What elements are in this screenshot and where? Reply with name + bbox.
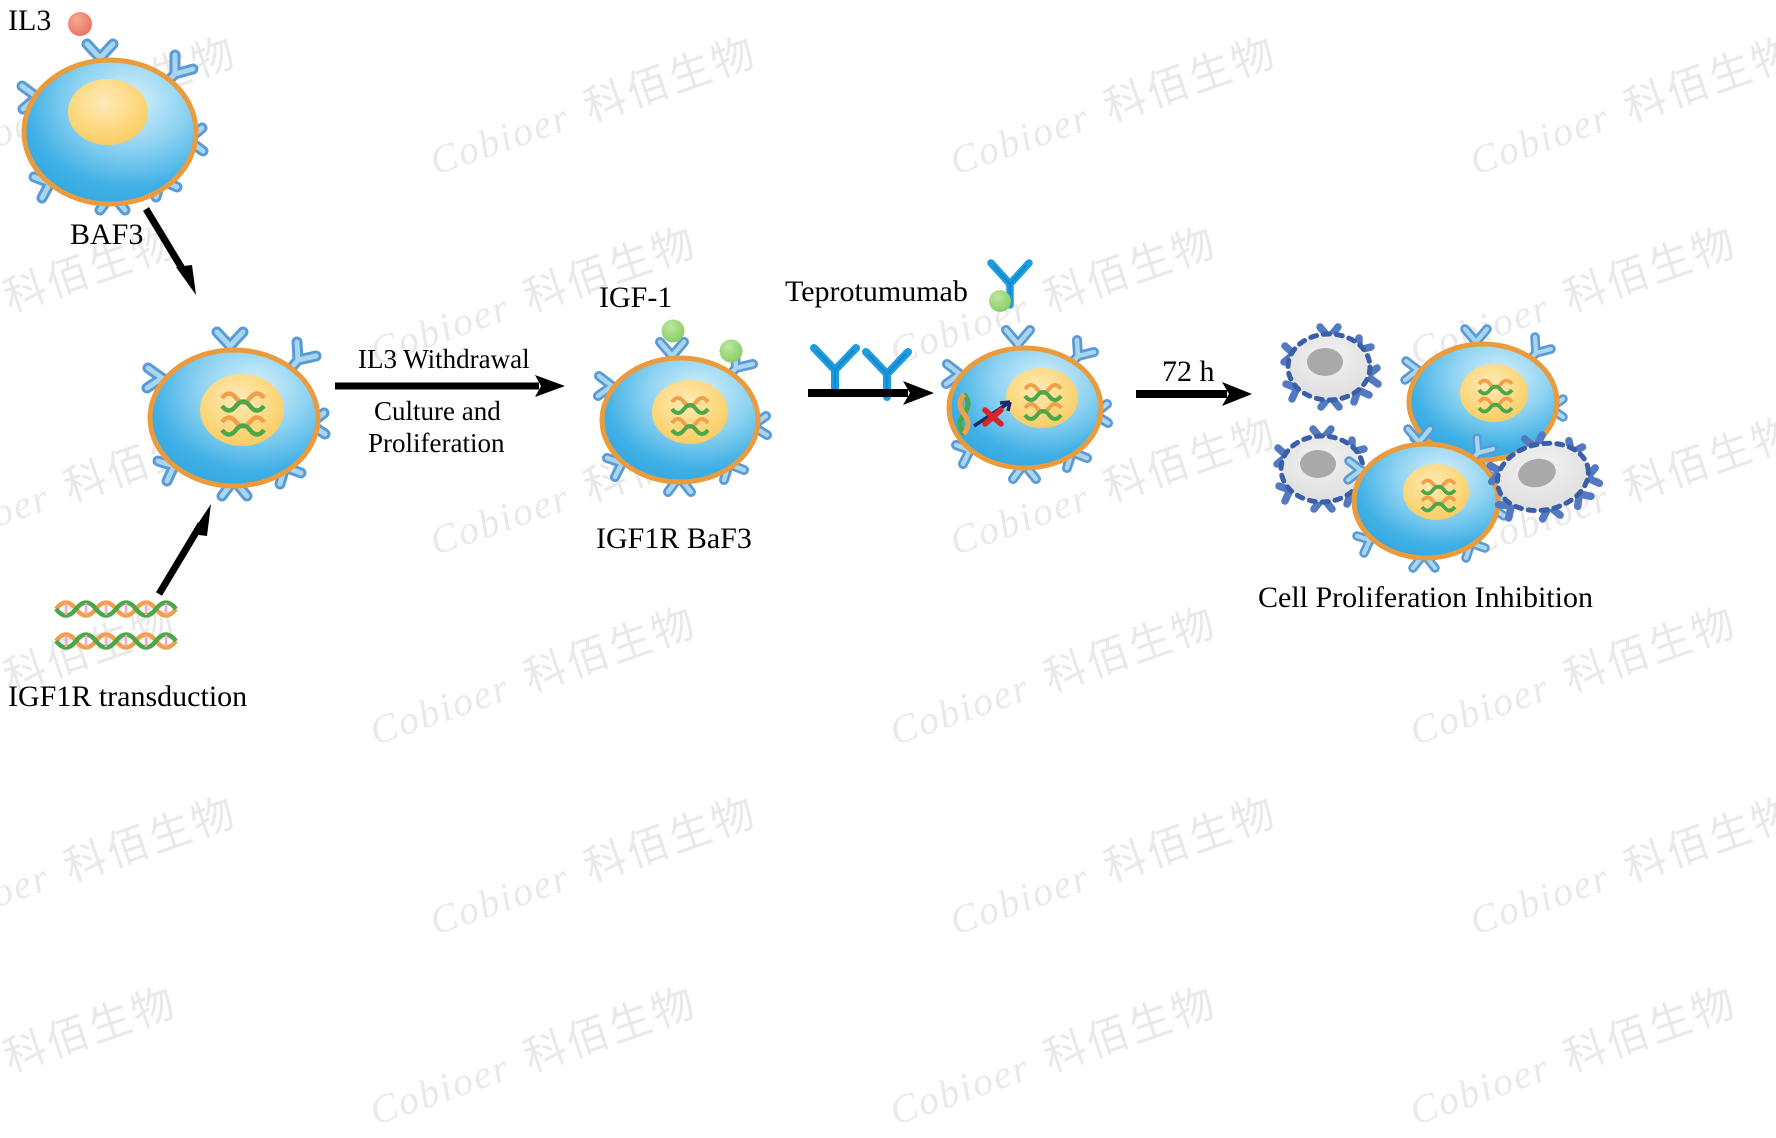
il3-ligand-icon: [64, 8, 96, 40]
arrow-baf3-to-igf1r: [140, 205, 210, 300]
igf1-ligand-icon-a: [658, 316, 688, 346]
arrow-dna-to-igf1r: [145, 490, 225, 600]
watermark-text: Cobioer科佰生物: [0, 968, 184, 1137]
watermark-text: Cobioer科佰生物: [360, 968, 704, 1137]
diagram-canvas: Cobioer科佰生物Cobioer科佰生物Cobioer科佰生物Cobioer…: [0, 0, 1776, 813]
label-72h: 72 h: [1162, 355, 1215, 389]
apoptotic-cell-1: [1273, 316, 1385, 416]
igf1-ligand-icon-b: [716, 336, 746, 366]
igf1-ligand-icon-c: [986, 287, 1014, 315]
watermark-text: Cobioer科佰生物: [0, 778, 244, 947]
watermark-text: Cobioer科佰生物: [360, 588, 704, 757]
label-il3: IL3: [8, 4, 51, 38]
label-igf1: IGF-1: [599, 281, 672, 315]
baf3-cell: [4, 30, 224, 220]
watermark-text: Cobioer科佰生物: [880, 588, 1224, 757]
label-il3-withdrawal: IL3 Withdrawal: [358, 344, 530, 375]
label-igf1r-transduction: IGF1R transduction: [8, 680, 247, 714]
igf1r-baf3-igf1-cell: [580, 320, 780, 510]
watermark-text: Cobioer科佰生物: [1460, 778, 1776, 947]
watermark-text: Cobioer科佰生物: [420, 18, 764, 187]
label-igf1r-baf3: IGF1R BaF3: [596, 522, 752, 556]
arrow-teprotumumab: [806, 382, 936, 408]
watermark-text: Cobioer科佰生物: [880, 968, 1224, 1137]
label-proliferation: Proliferation: [368, 428, 504, 459]
igf1r-dna-construct: [52, 595, 192, 665]
label-teprotumumab: Teprotumumab: [785, 275, 968, 309]
igf1r-baf3-cell: [130, 320, 340, 510]
watermark-text: Cobioer科佰生物: [940, 778, 1284, 947]
watermark-text: Cobioer科佰生物: [1460, 18, 1776, 187]
watermark-text: Cobioer科佰生物: [1400, 968, 1744, 1137]
teprotumumab-treated-cell: [930, 310, 1120, 495]
watermark-text: Cobioer科佰生物: [420, 778, 764, 947]
label-cell-proliferation-inhibition: Cell Proliferation Inhibition: [1258, 581, 1593, 615]
label-baf3: BAF3: [70, 218, 143, 252]
watermark-text: Cobioer科佰生物: [940, 18, 1284, 187]
label-culture: Culture and: [374, 396, 501, 427]
